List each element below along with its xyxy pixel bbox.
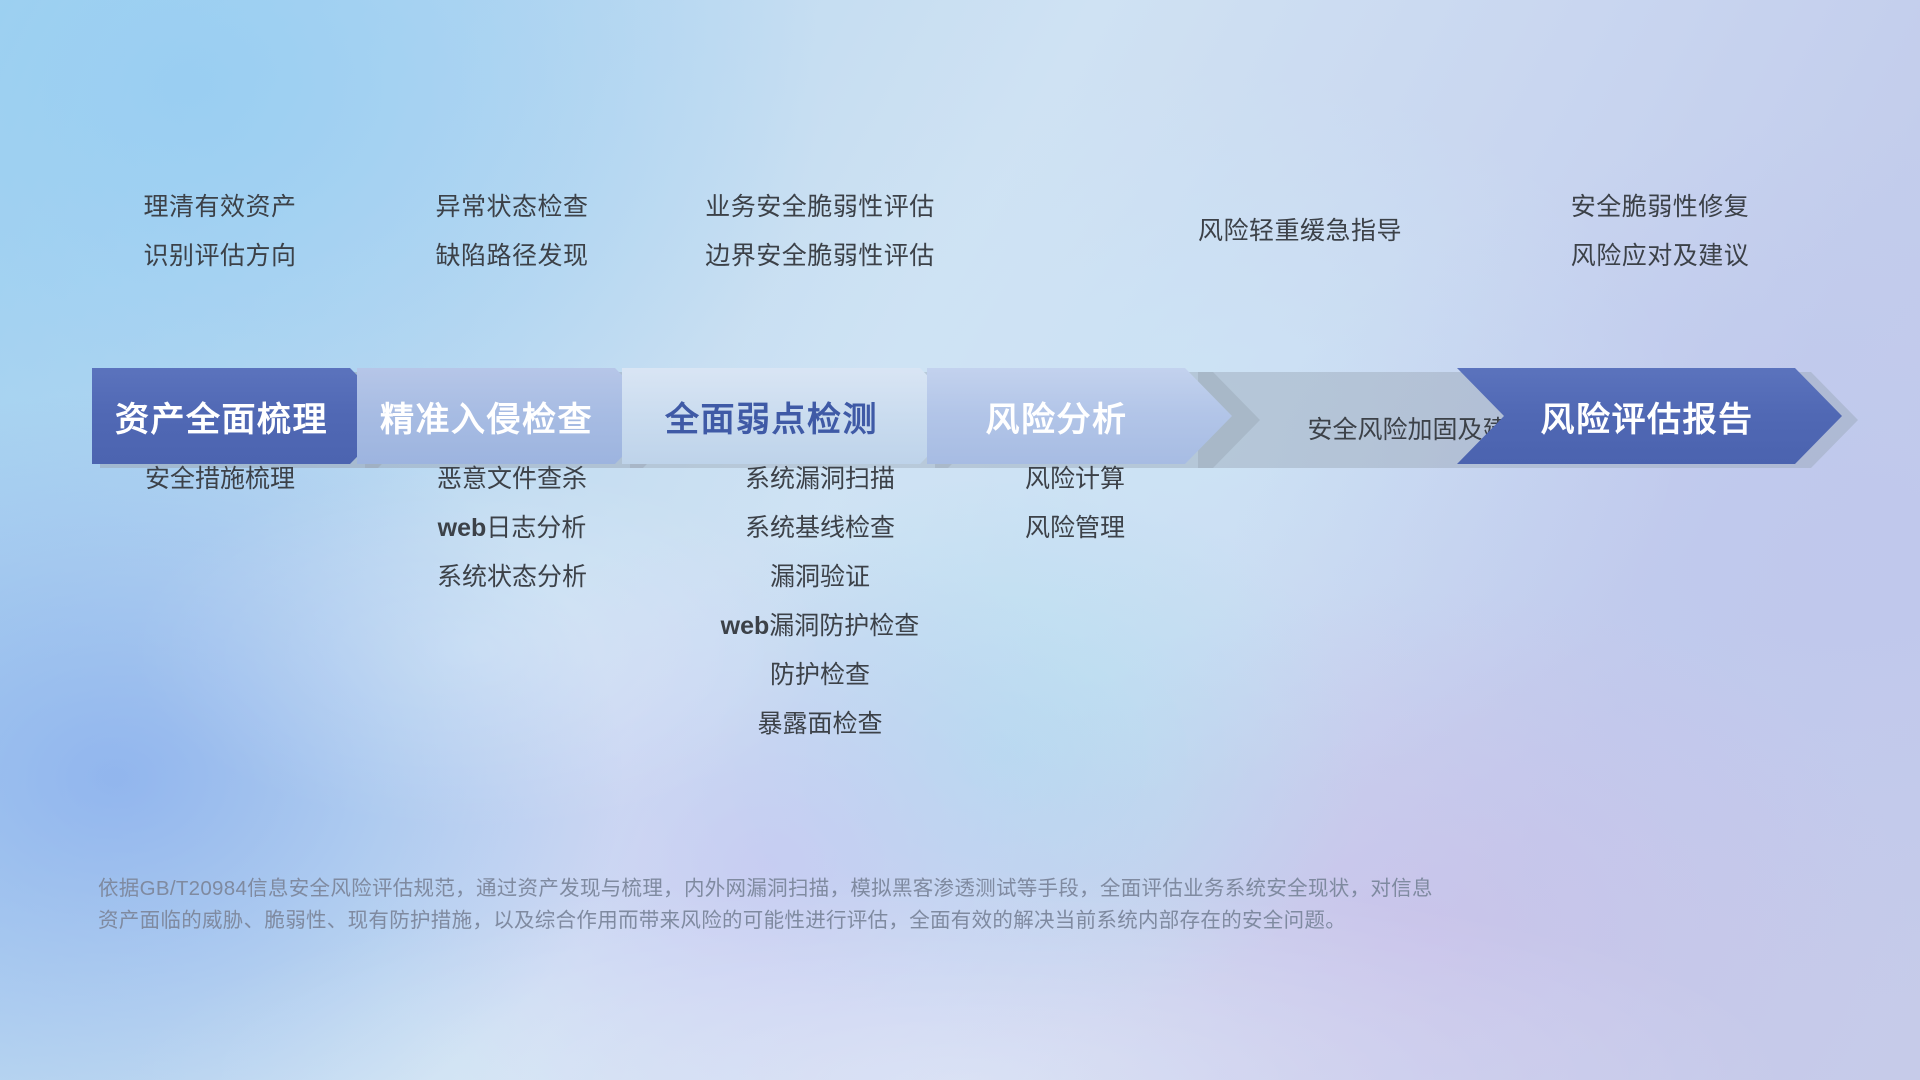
footer-line: 依据GB/T20984信息安全风险评估规范，通过资产发现与梳理，内外网漏洞扫描，… [98,873,1598,905]
stage-top-labels-3: 业务安全脆弱性评估 边界安全脆弱性评估 [630,183,1010,281]
list-item: web漏洞防护检查 [630,602,1010,651]
footer-description: 依据GB/T20984信息安全风险评估规范，通过资产发现与梳理，内外网漏洞扫描，… [98,873,1598,937]
top-label: 风险应对及建议 [1490,232,1830,281]
stage-top-labels-4: 风险轻重缓急指导 [1130,207,1470,256]
top-label: 理清有效资产 [60,183,380,232]
list-item-text: 日志分析 [486,514,586,542]
stage-top-labels-5: 安全脆弱性修复 风险应对及建议 [1490,183,1830,281]
stage-title: 风险评估报告 [1192,392,1842,441]
list-item: 系统状态分析 [352,553,672,602]
process-diagram: 理清有效资产 识别评估方向 异常状态检查 缺陷路径发现 业务安全脆弱性评估 边界… [0,0,1920,1080]
list-item: web日志分析 [352,504,672,553]
stage-top-labels-2: 异常状态检查 缺陷路径发现 [352,183,672,281]
stage-arrow-risk-analysis[interactable]: 风险分析 [927,368,1232,464]
stage-title: 全面弱点检测 [622,392,967,441]
stage-title: 资产全面梳理 [92,392,397,441]
list-item: 风险管理 [905,504,1245,553]
stage-arrow-asset-inventory[interactable]: 资产全面梳理 [92,368,397,464]
stage-top-labels-1: 理清有效资产 识别评估方向 [60,183,380,281]
list-item-text: 漏洞防护检查 [769,612,919,640]
top-label: 异常状态检查 [352,183,672,232]
stage-title: 精准入侵检查 [357,392,662,441]
top-label: 缺陷路径发现 [352,232,672,281]
list-item-lead: web [721,612,770,640]
top-label: 风险轻重缓急指导 [1130,207,1470,256]
stage-arrow-risk-report[interactable]: 风险评估报告 [1192,368,1842,464]
stage-arrow-band: 资产全面梳理 [0,368,1920,464]
stage-title: 风险分析 [927,392,1232,441]
list-item-lead: web [438,514,487,542]
top-label: 边界安全脆弱性评估 [630,232,1010,281]
top-label: 识别评估方向 [60,232,380,281]
list-item: 防护检查 [630,651,1010,700]
top-label: 业务安全脆弱性评估 [630,183,1010,232]
stage-arrow-weakness-detection[interactable]: 全面弱点检测 [622,368,967,464]
footer-line: 资产面临的威胁、脆弱性、现有防护措施，以及综合作用而带来风险的可能性进行评估，全… [98,905,1598,937]
list-item: 暴露面检查 [630,700,1010,749]
stage-arrow-intrusion-check[interactable]: 精准入侵检查 [357,368,662,464]
list-item: 漏洞验证 [630,553,1010,602]
top-label: 安全脆弱性修复 [1490,183,1830,232]
